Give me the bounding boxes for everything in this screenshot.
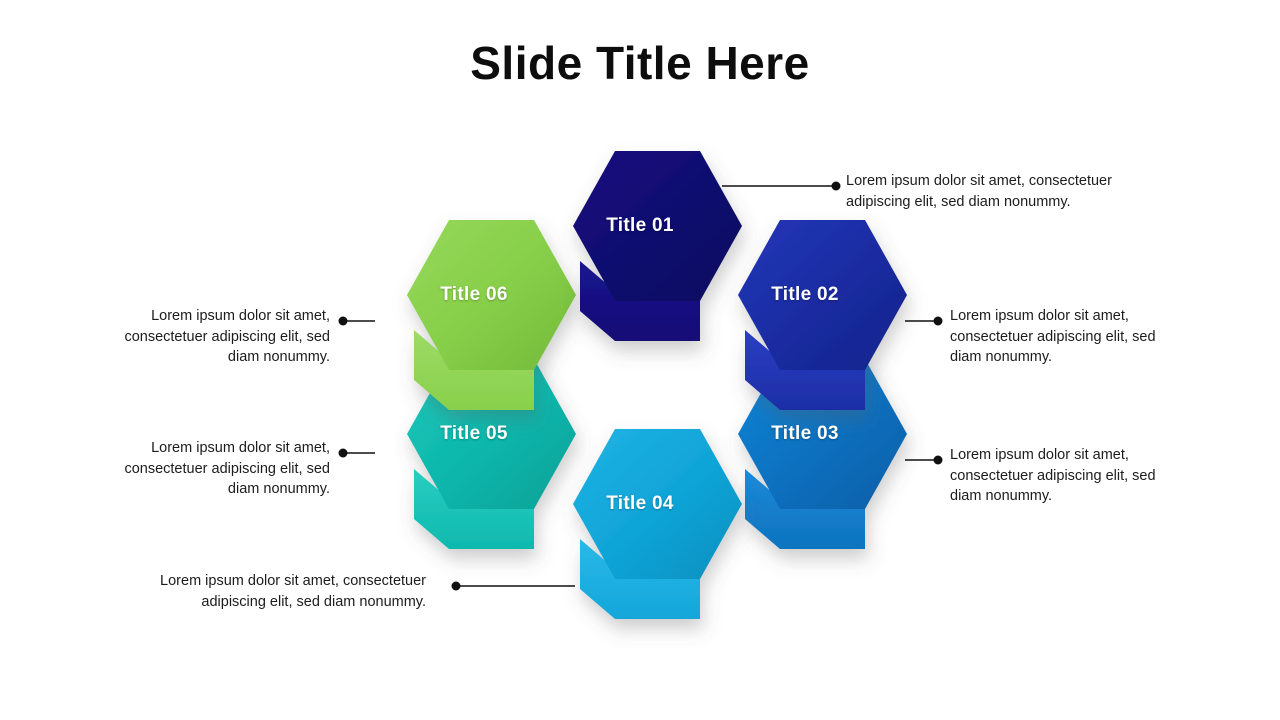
callout-line: diam nonummy. [950,486,1188,507]
callout-text-04: Lorem ipsum dolor sit amet, consectetuer… [106,571,426,612]
hexagon-shape-04[interactable] [573,429,742,619]
callout-text-02: Lorem ipsum dolor sit amet, consectetuer… [950,306,1188,368]
callout-line: consectetuer adipiscing elit, sed [92,459,330,480]
callout-text-05: Lorem ipsum dolor sit amet, consectetuer… [92,438,330,500]
hexagon-infographic: Title 01 Title 02 Title 03 Title 04 Titl… [0,0,1280,720]
callout-line: Lorem ipsum dolor sit amet, [950,306,1188,327]
callout-line: diam nonummy. [950,347,1188,368]
connector-dot-04 [452,582,461,591]
connector-dot-05 [339,449,348,458]
callout-line: Lorem ipsum dolor sit amet, consectetuer [846,171,1166,192]
connector-dot-06 [339,317,348,326]
connector-dot-03 [934,456,943,465]
hexagon-shape-02[interactable] [738,220,907,410]
slide-canvas: Slide Title Here [0,0,1280,720]
callout-line: consectetuer adipiscing elit, sed [950,327,1188,348]
connector-dot-01 [832,182,841,191]
callout-text-06: Lorem ipsum dolor sit amet, consectetuer… [92,306,330,368]
callout-text-01: Lorem ipsum dolor sit amet, consectetuer… [846,171,1166,212]
callout-line: adipiscing elit, sed diam nonummy. [106,592,426,613]
callout-line: diam nonummy. [92,479,330,500]
callout-line: Lorem ipsum dolor sit amet, [92,438,330,459]
callout-line: Lorem ipsum dolor sit amet, [92,306,330,327]
callout-line: Lorem ipsum dolor sit amet, consectetuer [106,571,426,592]
callout-text-03: Lorem ipsum dolor sit amet, consectetuer… [950,445,1188,507]
callout-line: Lorem ipsum dolor sit amet, [950,445,1188,466]
callout-line: consectetuer adipiscing elit, sed [950,466,1188,487]
connector-dot-02 [934,317,943,326]
hexagon-shape-01[interactable] [573,151,742,341]
callout-line: consectetuer adipiscing elit, sed [92,327,330,348]
callout-line: diam nonummy. [92,347,330,368]
callout-line: adipiscing elit, sed diam nonummy. [846,192,1166,213]
hexagon-shape-06[interactable] [407,220,576,410]
